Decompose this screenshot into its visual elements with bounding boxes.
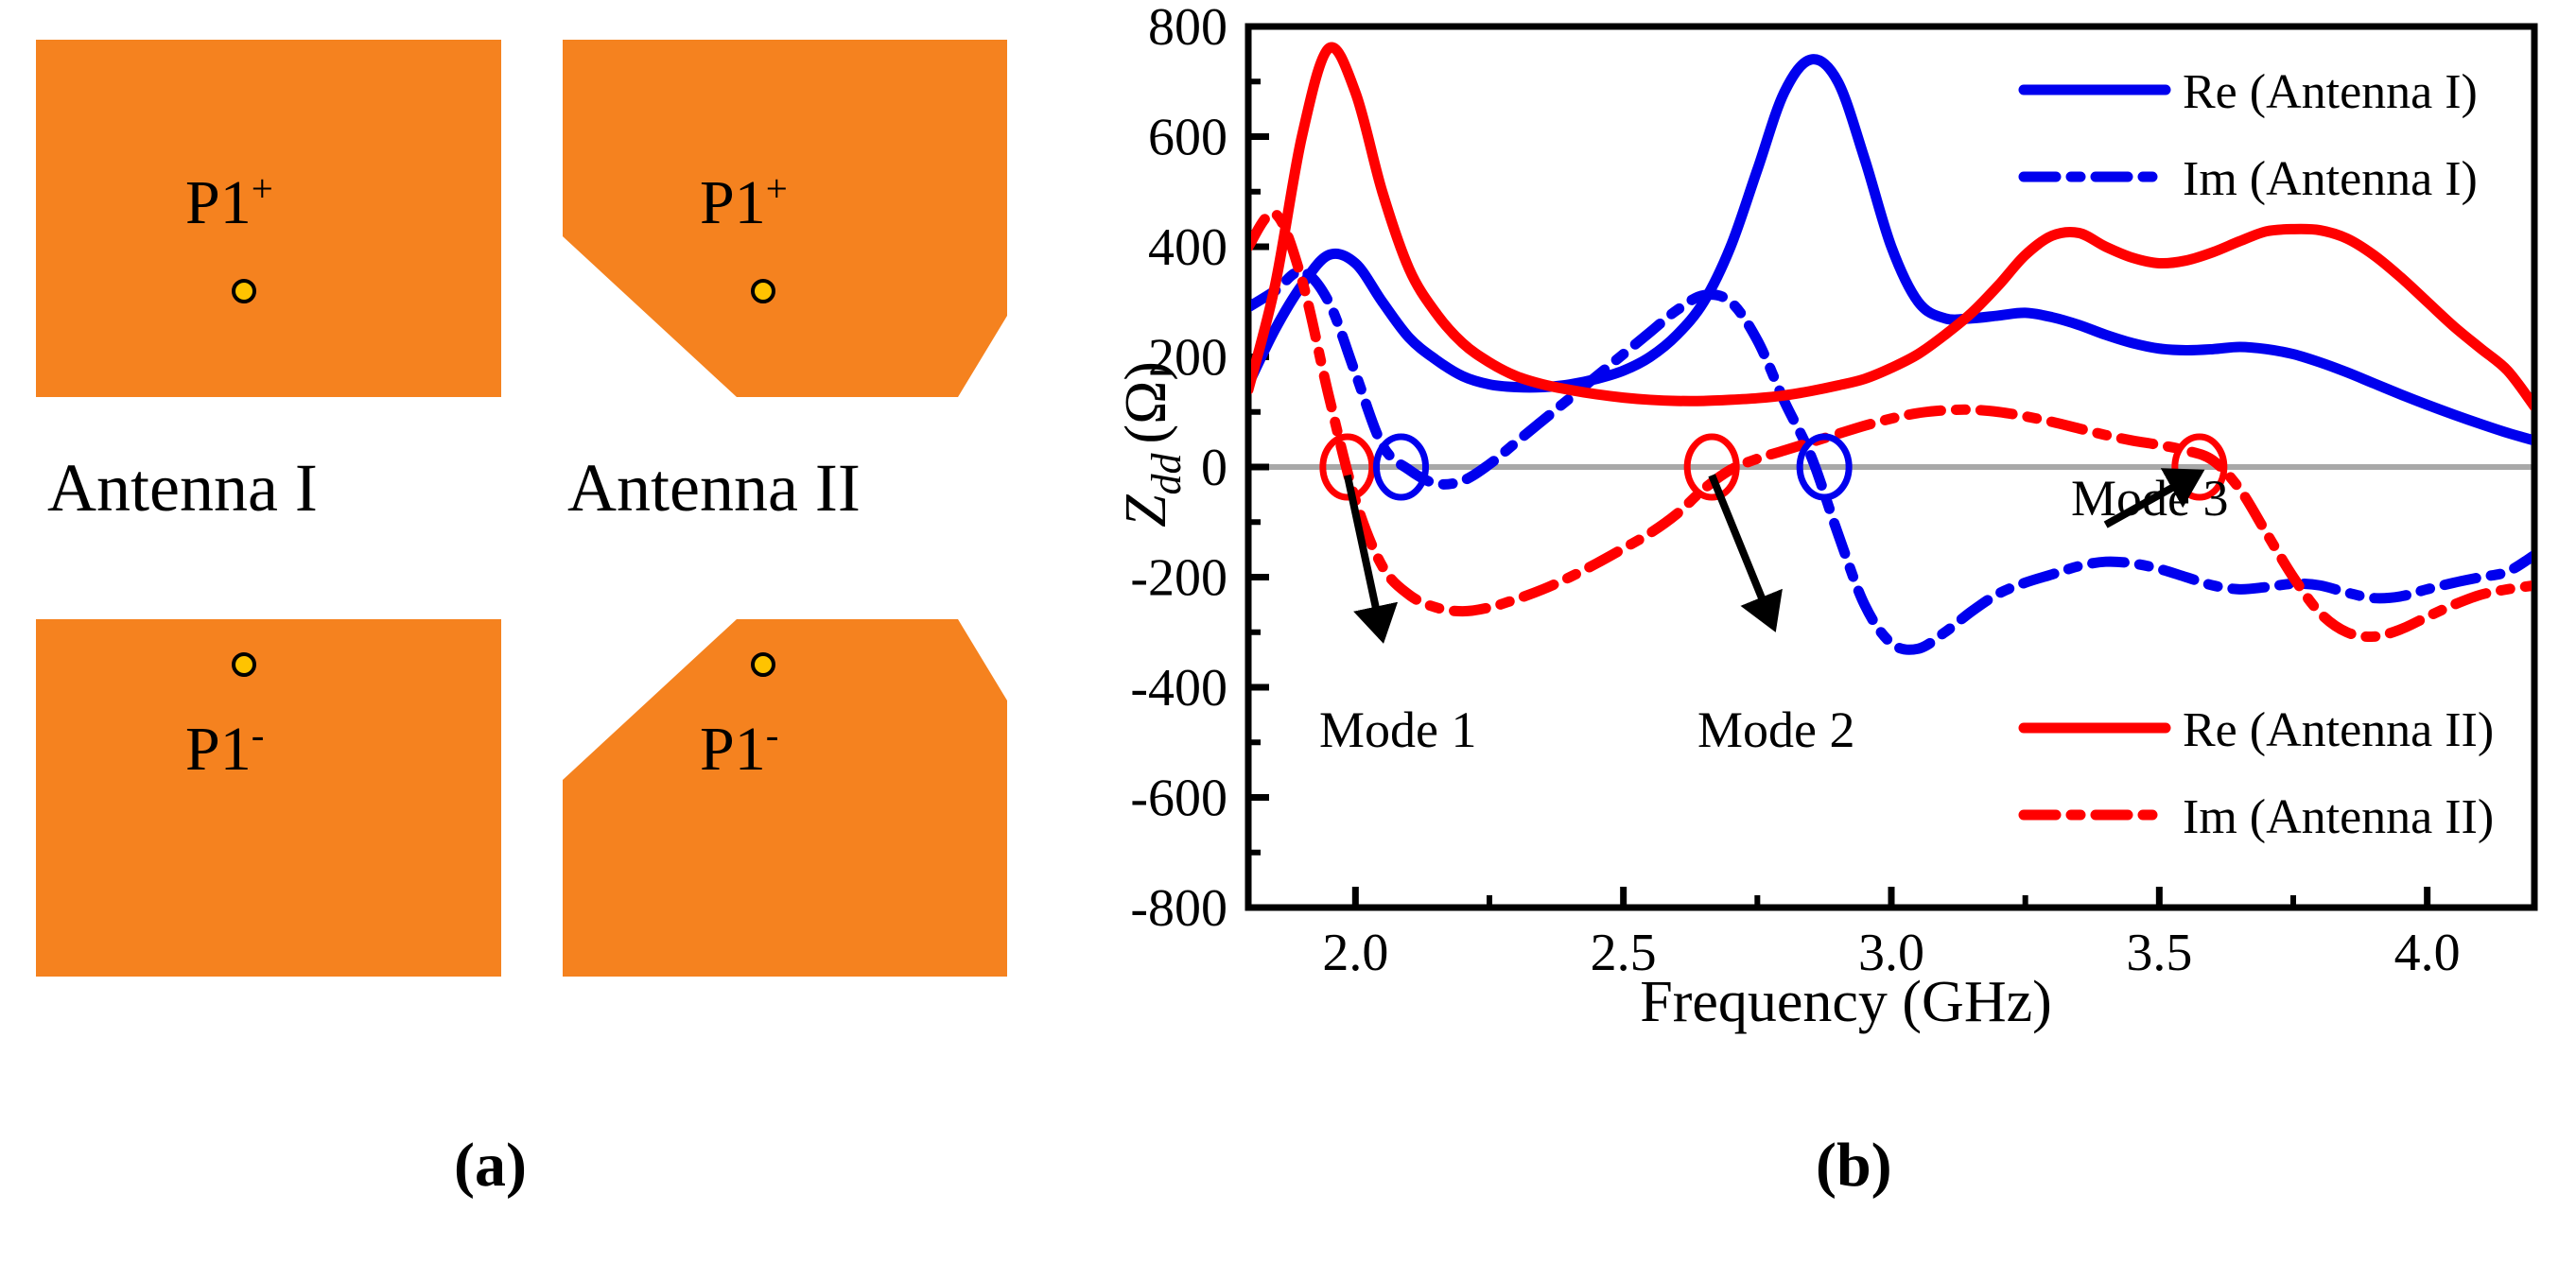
panel-a-antenna-geometry: P1+ Antenna I P1-	[0, 0, 1116, 1263]
y-axis-title-subscript: dd	[1143, 452, 1190, 494]
mode-annotation-arrow	[1712, 476, 1773, 627]
antenna-2-bottom-port-label: P1-	[700, 718, 778, 781]
panel-b-impedance-chart: -800-600-400-2000200400600800 2.02.53.03…	[1116, 0, 2576, 1263]
x-tick-label: 4.0	[2394, 924, 2461, 982]
y-tick-label: 600	[1148, 109, 1227, 167]
x-axis-title: Frequency (GHz)	[1640, 970, 2052, 1034]
antenna-2-caption: Antenna II	[567, 454, 861, 522]
port-text: P1	[700, 715, 766, 784]
data-series-group	[1248, 47, 2534, 649]
y-axis-title-symbol: Z	[1116, 494, 1178, 528]
y-tick-label: -600	[1130, 770, 1227, 828]
legend-label: Re (Antenna I)	[2183, 65, 2478, 119]
port-text: P1	[185, 715, 252, 784]
antenna-1-top-port-label: P1+	[185, 172, 273, 234]
antenna-1-top-port-dot	[230, 277, 258, 305]
port-sign: -	[252, 714, 265, 756]
port-sign: +	[766, 167, 788, 210]
port-text: P1	[185, 168, 252, 237]
series-line	[1248, 213, 2534, 636]
antenna-1-caption: Antenna I	[47, 454, 318, 522]
x-tick-label: 2.0	[1322, 924, 1388, 982]
mode-annotation-label: Mode 2	[1697, 701, 1854, 758]
legend-label: Re (Antenna II)	[2183, 703, 2494, 757]
antenna-2-bottom-port-dot	[749, 650, 777, 679]
x-tick-label: 3.5	[2126, 924, 2192, 982]
mode-annotation-label: Mode 1	[1319, 701, 1476, 758]
antenna-1-bottom-patch	[36, 619, 501, 977]
antenna-2-bottom-patch	[563, 619, 1007, 977]
antenna-1-bottom-port-label: P1-	[185, 718, 264, 781]
port-text: P1	[700, 168, 766, 237]
y-tick-label: 0	[1201, 439, 1227, 497]
panel-b-sub-caption: (b)	[1816, 1134, 1892, 1197]
y-axis-title-unit: (Ω)	[1116, 361, 1178, 443]
y-tick-label: 800	[1148, 0, 1227, 57]
chart-legend: Re (Antenna I)Im (Antenna I)Re (Antenna …	[2024, 65, 2494, 844]
y-tick-label: -400	[1130, 659, 1227, 718]
antenna-1-bottom-port-dot	[230, 650, 258, 679]
impedance-plot: -800-600-400-2000200400600800 2.02.53.03…	[1116, 0, 2576, 1263]
figure-root: P1+ Antenna I P1-	[0, 0, 2576, 1263]
antenna-2-top-port-label: P1+	[700, 172, 788, 234]
y-tick-label: 400	[1148, 218, 1227, 277]
y-tick-label: -200	[1130, 549, 1227, 608]
port-sign: -	[766, 714, 779, 756]
panel-a-sub-caption: (a)	[454, 1134, 527, 1197]
antenna-2-top-port-dot	[749, 277, 777, 305]
port-sign: +	[252, 167, 273, 210]
y-tick-label: -800	[1130, 879, 1227, 938]
mode-annotation-label: Mode 3	[2071, 470, 2228, 527]
legend-label: Im (Antenna I)	[2183, 152, 2478, 206]
legend-label: Im (Antenna II)	[2183, 790, 2494, 844]
